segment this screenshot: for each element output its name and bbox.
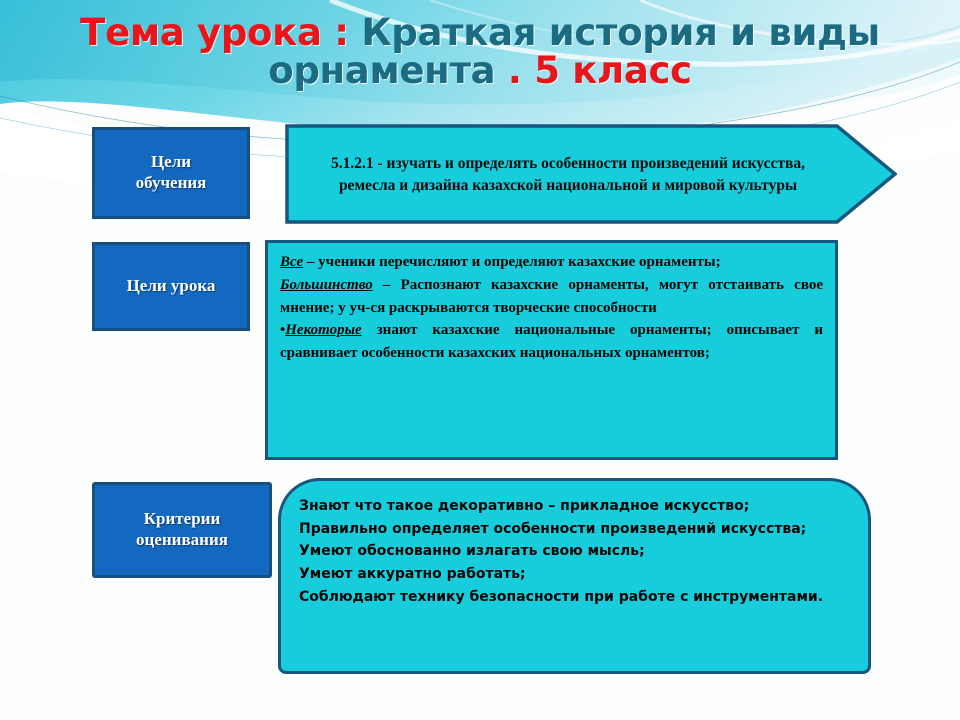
lesson-goal-item-most: Большинство – Распознают казахские орнам… — [280, 274, 823, 320]
title-line-2: орнамента . 5 класс — [0, 52, 960, 90]
label-assessment-criteria-text: Критерии оценивания — [136, 509, 228, 550]
label-assessment-criteria: Критерии оценивания — [92, 482, 272, 578]
criteria-line: Правильно определяет особенности произве… — [299, 518, 850, 541]
lesson-goal-lead-all: Все — [280, 254, 303, 270]
criteria-line: Соблюдают технику безопасности при работ… — [299, 586, 850, 609]
panel-learning-goals-text: 5.1.2.1 - изучать и определять особеннос… — [303, 134, 833, 216]
slide-canvas: Тема урока : Краткая история и виды орна… — [0, 0, 960, 720]
label-learning-goals: Цели обучения — [92, 127, 250, 219]
lesson-goal-text-all: – ученики перечисляют и определяют казах… — [303, 254, 720, 270]
panel-assessment-criteria: Знают что такое декоративно – прикладное… — [278, 478, 871, 674]
title-line-1: Тема урока : Краткая история и виды — [0, 14, 960, 52]
criteria-line: Умеют обоснованно излагать свою мысль; — [299, 540, 850, 563]
panel-learning-goals: 5.1.2.1 - изучать и определять особеннос… — [285, 124, 897, 224]
page-title: Тема урока : Краткая история и виды орна… — [0, 14, 960, 91]
title-main-part1: Краткая история и виды — [361, 11, 880, 54]
title-grade: . 5 класс — [508, 49, 692, 92]
lesson-goal-item-some: •Некоторые знают казахские национальные … — [280, 319, 823, 365]
label-learning-goals-line2: обучения — [136, 173, 207, 192]
criteria-line: Знают что такое декоративно – прикладное… — [299, 495, 850, 518]
criteria-line: Умеют аккуратно работать; — [299, 563, 850, 586]
label-criteria-line1: Критерии — [144, 509, 221, 528]
label-lesson-goals: Цели урока — [92, 242, 250, 331]
title-main-part2: орнамента — [268, 49, 495, 92]
lesson-goal-item-all: Все – ученики перечисляют и определяют к… — [280, 251, 823, 274]
title-prefix: Тема урока : — [80, 11, 349, 54]
lesson-goal-lead-most: Большинство — [280, 277, 373, 293]
label-learning-goals-text: Цели обучения — [136, 152, 207, 193]
lesson-goal-lead-some: Некоторые — [285, 322, 361, 338]
label-lesson-goals-text: Цели урока — [127, 276, 216, 297]
lesson-goal-text-some: знают казахские национальные орнаменты; … — [280, 322, 823, 361]
label-learning-goals-line1: Цели — [151, 152, 191, 171]
panel-lesson-goals: Все – ученики перечисляют и определяют к… — [265, 240, 838, 460]
label-criteria-line2: оценивания — [136, 530, 228, 549]
